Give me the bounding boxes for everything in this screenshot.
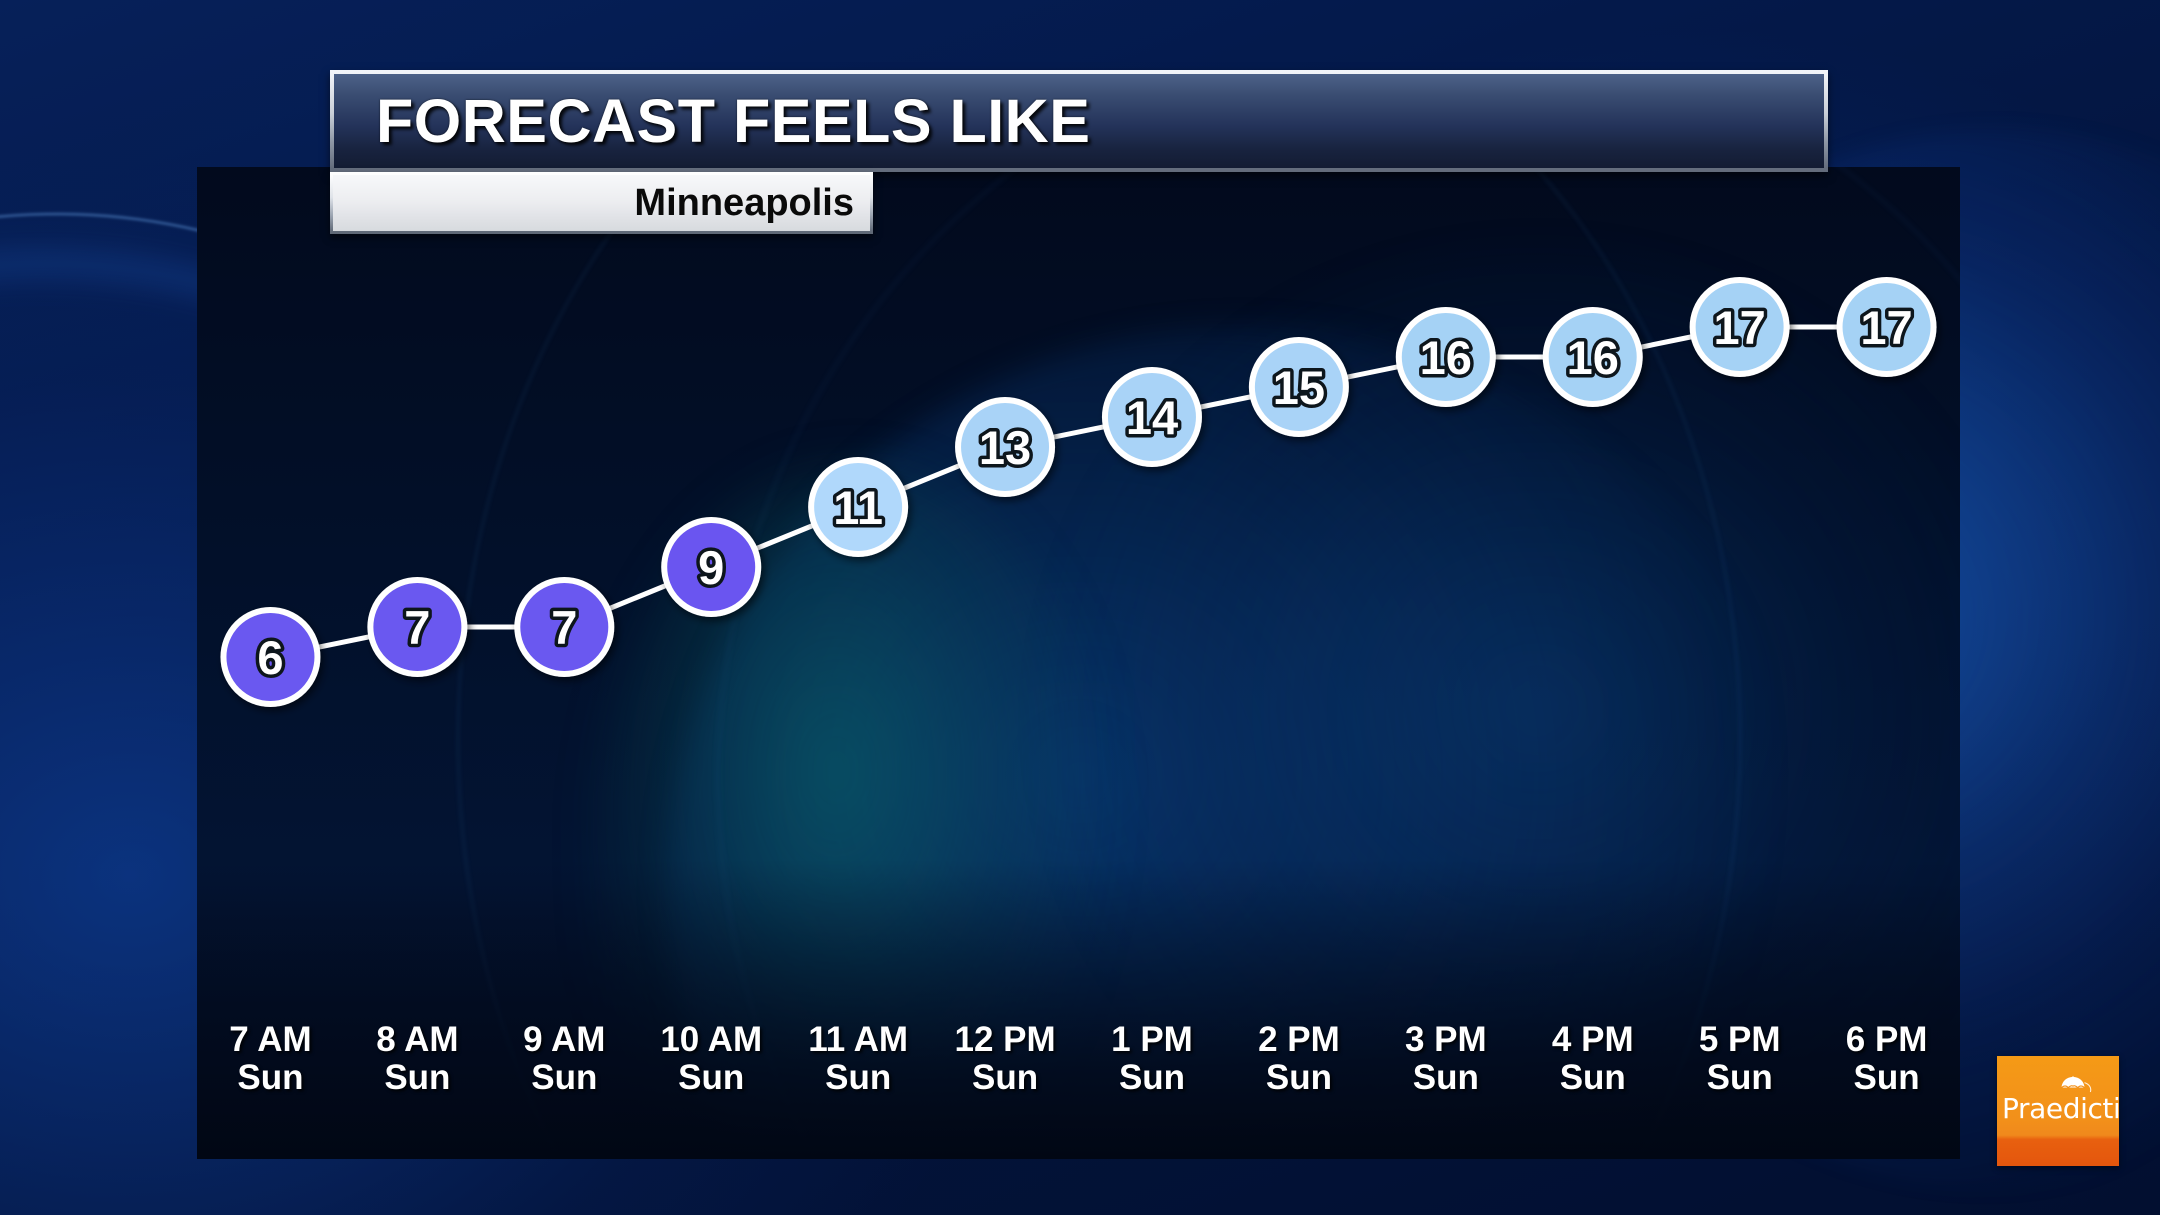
axis-tick-time: 4 PM bbox=[1552, 1020, 1634, 1059]
axis-tick-day: Sun bbox=[1813, 1059, 1960, 1097]
axis-tick-time: 11 AM bbox=[808, 1020, 908, 1059]
data-point-bubble[interactable]: 1717 bbox=[1840, 280, 1934, 374]
bubble-value: 17 bbox=[1860, 301, 1912, 354]
bubble-value: 6 bbox=[257, 631, 283, 684]
data-point-bubble[interactable]: 1414 bbox=[1105, 370, 1199, 464]
axis-tick-time: 9 AM bbox=[523, 1020, 605, 1059]
data-point-bubble[interactable]: 77 bbox=[370, 580, 464, 674]
bubble-value: 9 bbox=[698, 541, 724, 594]
location-label: Minneapolis bbox=[634, 182, 854, 225]
bubble-value: 14 bbox=[1126, 391, 1178, 444]
bubble-value: 17 bbox=[1713, 301, 1765, 354]
axis-tick-time: 3 PM bbox=[1405, 1020, 1487, 1059]
bubble-value: 15 bbox=[1273, 361, 1325, 414]
axis-tick: 3 PMSun bbox=[1372, 1021, 1519, 1131]
series-connector-line bbox=[270, 327, 1886, 657]
axis-tick-day: Sun bbox=[932, 1059, 1079, 1097]
axis-tick: 6 PMSun bbox=[1813, 1021, 1960, 1131]
data-point-bubble[interactable]: 1616 bbox=[1546, 310, 1640, 404]
axis-tick-time: 2 PM bbox=[1258, 1020, 1340, 1059]
axis-tick-day: Sun bbox=[1519, 1059, 1666, 1097]
data-point-bubble[interactable]: 1111 bbox=[811, 460, 905, 554]
bubble-value: 7 bbox=[551, 601, 577, 654]
axis-tick-day: Sun bbox=[197, 1059, 344, 1097]
series-data-points: 6677779911111313141415151616161617171717 bbox=[223, 280, 1933, 704]
axis-tick-day: Sun bbox=[1079, 1059, 1226, 1097]
axis-tick-time: 10 AM bbox=[660, 1020, 762, 1059]
axis-tick-day: Sun bbox=[638, 1059, 785, 1097]
axis-tick-time: 6 PM bbox=[1846, 1020, 1928, 1059]
axis-tick-time: 7 AM bbox=[229, 1020, 311, 1059]
axis-tick-day: Sun bbox=[1372, 1059, 1519, 1097]
praedictix-logo: Praedictix bbox=[1997, 1056, 2119, 1166]
axis-tick-day: Sun bbox=[1225, 1059, 1372, 1097]
axis-tick-day: Sun bbox=[491, 1059, 638, 1097]
axis-tick-day: Sun bbox=[1666, 1059, 1813, 1097]
axis-tick-time: 8 AM bbox=[376, 1020, 458, 1059]
axis-tick-time: 12 PM bbox=[954, 1020, 1055, 1059]
data-point-bubble[interactable]: 99 bbox=[664, 520, 758, 614]
axis-tick: 1 PMSun bbox=[1079, 1021, 1226, 1131]
feels-like-line-chart: 6677779911111313141415151616161617171717 bbox=[197, 167, 1960, 1159]
logo-text: Praedictix bbox=[2002, 1092, 2114, 1125]
data-point-bubble[interactable]: 1616 bbox=[1399, 310, 1493, 404]
data-point-bubble[interactable]: 1313 bbox=[958, 400, 1052, 494]
bubble-value: 16 bbox=[1567, 331, 1619, 384]
axis-tick: 12 PMSun bbox=[932, 1021, 1079, 1131]
data-point-bubble[interactable]: 77 bbox=[517, 580, 611, 674]
axis-tick-time: 1 PM bbox=[1111, 1020, 1193, 1059]
axis-tick: 2 PMSun bbox=[1225, 1021, 1372, 1131]
time-axis: 7 AMSun8 AMSun9 AMSun10 AMSun11 AMSun12 … bbox=[197, 1021, 1960, 1131]
axis-tick: 4 PMSun bbox=[1519, 1021, 1666, 1131]
page-title: FORECAST FEELS LIKE bbox=[376, 86, 1090, 156]
weather-graphic: 6677779911111313141415151616161617171717… bbox=[0, 0, 2160, 1215]
axis-tick: 7 AMSun bbox=[197, 1021, 344, 1131]
data-point-bubble[interactable]: 1515 bbox=[1252, 340, 1346, 434]
location-bar: Minneapolis bbox=[330, 172, 873, 234]
bubble-value: 11 bbox=[833, 481, 883, 534]
axis-tick-day: Sun bbox=[344, 1059, 491, 1097]
axis-tick-day: Sun bbox=[785, 1059, 932, 1097]
axis-tick: 11 AMSun bbox=[785, 1021, 932, 1131]
axis-tick: 5 PMSun bbox=[1666, 1021, 1813, 1131]
axis-tick: 9 AMSun bbox=[491, 1021, 638, 1131]
data-point-bubble[interactable]: 66 bbox=[223, 610, 317, 704]
axis-tick: 8 AMSun bbox=[344, 1021, 491, 1131]
bubble-value: 13 bbox=[979, 421, 1031, 474]
bubble-value: 7 bbox=[404, 601, 430, 654]
axis-tick: 10 AMSun bbox=[638, 1021, 785, 1131]
title-bar: FORECAST FEELS LIKE bbox=[330, 70, 1828, 172]
data-point-bubble[interactable]: 1717 bbox=[1693, 280, 1787, 374]
bubble-value: 16 bbox=[1420, 331, 1472, 384]
axis-tick-time: 5 PM bbox=[1699, 1020, 1781, 1059]
